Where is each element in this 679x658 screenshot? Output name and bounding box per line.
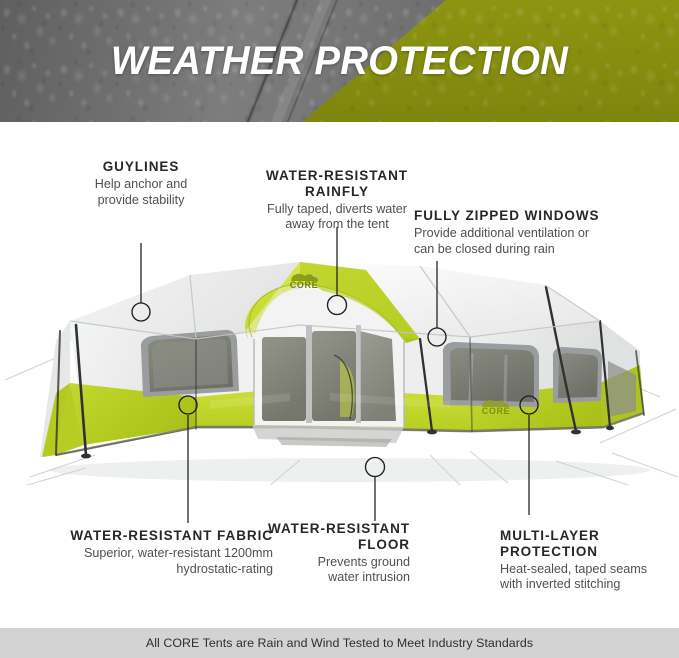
callout-fully-zipped-windows: FULLY ZIPPED WINDOWS Provide additional …	[414, 208, 674, 258]
svg-text:CORE: CORE	[482, 406, 510, 416]
callout-water-resistant-floor-body: Prevents ground water intrusion	[230, 555, 410, 587]
infographic-page: WEATHER PROTECTION	[0, 0, 679, 658]
callout-water-resistant-floor-title: WATER-RESISTANT FLOOR	[230, 521, 410, 553]
page-title: WEATHER PROTECTION	[14, 0, 666, 122]
footer-text: All CORE Tents are Rain and Wind Tested …	[146, 636, 533, 650]
callout-multi-layer-protection-title: MULTI-LAYER PROTECTION	[500, 528, 679, 560]
product-stage: CORE CORE	[0, 125, 679, 618]
callout-water-resistant-rainfly-title: WATER-RESISTANT RAINFLY	[197, 168, 477, 200]
callout-multi-layer-protection-body: Heat-sealed, taped seams with inverted s…	[500, 562, 679, 594]
callout-multi-layer-protection: MULTI-LAYER PROTECTION Heat-sealed, tape…	[500, 528, 679, 593]
footer-bar: All CORE Tents are Rain and Wind Tested …	[0, 628, 679, 658]
header-banner: WEATHER PROTECTION	[0, 0, 679, 122]
callout-fully-zipped-windows-title: FULLY ZIPPED WINDOWS	[414, 208, 674, 224]
callout-fully-zipped-windows-body: Provide additional ventilation or can be…	[414, 226, 674, 258]
svg-text:CORE: CORE	[290, 280, 318, 290]
callout-water-resistant-floor: WATER-RESISTANT FLOOR Prevents ground wa…	[230, 521, 410, 586]
